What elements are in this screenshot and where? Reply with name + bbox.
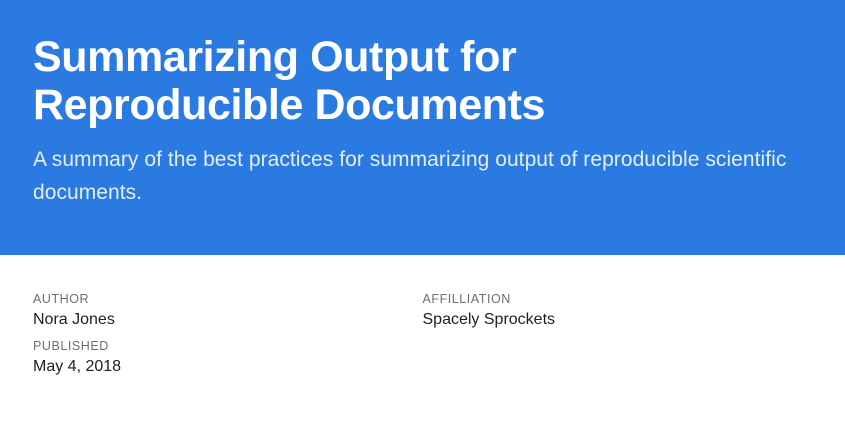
- metadata-value-published: May 4, 2018: [33, 355, 423, 378]
- page-subtitle: A summary of the best practices for summ…: [33, 143, 795, 209]
- title-banner: Summarizing Output for Reproducible Docu…: [0, 0, 845, 255]
- metadata-field-author: AUTHOR Nora Jones: [33, 291, 423, 335]
- metadata-field-published: PUBLISHED May 4, 2018: [33, 338, 423, 378]
- metadata-value-author: Nora Jones: [33, 308, 423, 331]
- metadata-label-affiliation: AFFILLIATION: [423, 291, 813, 308]
- metadata-label-published: PUBLISHED: [33, 338, 423, 355]
- metadata-label-author: AUTHOR: [33, 291, 423, 308]
- metadata-value-affiliation: Spacely Sprockets: [423, 308, 813, 331]
- page-title: Summarizing Output for Reproducible Docu…: [33, 33, 733, 129]
- metadata-column-author: AUTHOR Nora Jones PUBLISHED May 4, 2018: [33, 291, 423, 378]
- metadata-field-affiliation: AFFILLIATION Spacely Sprockets: [423, 291, 813, 331]
- metadata-column-affiliation: AFFILLIATION Spacely Sprockets: [423, 291, 813, 331]
- article-metadata: AUTHOR Nora Jones PUBLISHED May 4, 2018 …: [0, 255, 845, 378]
- article-title-block: Summarizing Output for Reproducible Docu…: [0, 0, 845, 444]
